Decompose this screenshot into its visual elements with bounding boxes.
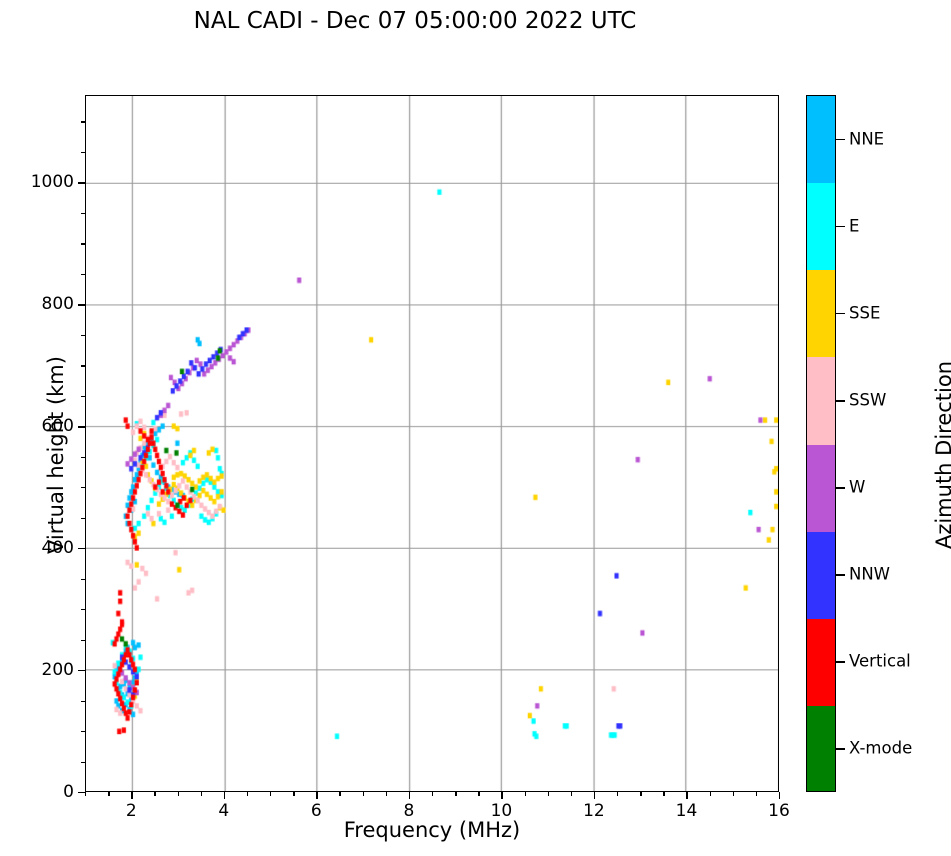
x-tick-mark (594, 792, 595, 799)
x-tick-mark (525, 792, 526, 796)
x-axis-title: Frequency (MHz) (85, 818, 779, 842)
y-tick-mark (78, 182, 85, 183)
y-tick-mark (78, 426, 85, 427)
colorbar-label-x-mode: X-mode (849, 739, 912, 758)
colorbar-tick-mark (836, 661, 845, 663)
x-tick-mark (201, 792, 202, 796)
colorbar-label-w: W (849, 478, 865, 497)
colorbar-label-nne: NNE (849, 129, 884, 148)
figure-root: NAL CADI - Dec 07 05:00:00 2022 UTC 2468… (0, 0, 951, 856)
x-tick-mark (293, 792, 294, 796)
x-tick-mark (617, 792, 618, 796)
x-tick-mark (224, 792, 225, 799)
y-tick-label: 1000 (0, 172, 74, 192)
colorbar-label-e: E (849, 216, 859, 235)
colorbar (806, 95, 836, 792)
colorbar-label-nnw: NNW (849, 565, 890, 584)
colorbar-band-vertical (807, 619, 835, 706)
y-tick-mark (81, 274, 85, 275)
y-tick-mark (81, 243, 85, 244)
y-tick-mark (81, 487, 85, 488)
x-tick-mark (455, 792, 456, 796)
x-tick-mark (386, 792, 387, 796)
y-tick-label: 200 (0, 660, 74, 680)
x-tick-mark (85, 792, 86, 796)
y-tick-mark (81, 335, 85, 336)
y-tick-mark (81, 609, 85, 610)
colorbar-band-nnw (807, 532, 835, 619)
y-tick-mark (81, 762, 85, 763)
colorbar-label-sse: SSE (849, 303, 880, 322)
x-tick-mark (316, 792, 317, 799)
colorbar-tick-mark (836, 226, 845, 228)
y-tick-mark (78, 792, 85, 793)
colorbar-tick-mark (836, 748, 845, 750)
y-tick-mark (81, 213, 85, 214)
x-tick-mark (363, 792, 364, 796)
y-tick-mark (81, 152, 85, 153)
x-tick-mark (756, 792, 757, 796)
x-tick-mark (108, 792, 109, 796)
y-tick-mark (81, 518, 85, 519)
y-tick-mark (81, 396, 85, 397)
y-tick-mark (78, 548, 85, 549)
scatter-plot-canvas (86, 96, 778, 791)
x-tick-mark (571, 792, 572, 796)
colorbar-band-x-mode (807, 706, 835, 792)
colorbar-label-ssw: SSW (849, 390, 886, 409)
colorbar-title: Azimuth Direction (932, 290, 951, 620)
y-tick-label: 0 (0, 782, 74, 802)
x-tick-mark (432, 792, 433, 796)
y-tick-mark (81, 640, 85, 641)
x-tick-mark (501, 792, 502, 799)
colorbar-label-vertical: Vertical (849, 652, 911, 671)
colorbar-tick-mark (836, 487, 845, 489)
colorbar-band-e (807, 183, 835, 270)
x-tick-mark (247, 792, 248, 796)
x-tick-mark (131, 792, 132, 799)
colorbar-band-sse (807, 270, 835, 357)
x-tick-mark (663, 792, 664, 796)
colorbar-tick-mark (836, 574, 845, 576)
y-tick-mark (81, 731, 85, 732)
colorbar-tick-mark (836, 139, 845, 141)
colorbar-band-nne (807, 96, 835, 183)
x-tick-mark (178, 792, 179, 796)
x-tick-mark (640, 792, 641, 796)
x-tick-mark (733, 792, 734, 796)
colorbar-tick-mark (836, 313, 845, 315)
x-tick-mark (779, 792, 780, 799)
y-tick-mark (81, 579, 85, 580)
y-tick-mark (81, 365, 85, 366)
x-tick-mark (154, 792, 155, 796)
y-tick-mark (81, 457, 85, 458)
colorbar-band-ssw (807, 357, 835, 444)
y-tick-mark (81, 121, 85, 122)
x-tick-mark (478, 792, 479, 796)
x-tick-mark (409, 792, 410, 799)
colorbar-band-w (807, 445, 835, 532)
y-tick-mark (81, 701, 85, 702)
x-tick-mark (686, 792, 687, 799)
x-tick-mark (339, 792, 340, 796)
plot-area (85, 95, 779, 792)
x-tick-mark (548, 792, 549, 796)
colorbar-tick-mark (836, 400, 845, 402)
page-title: NAL CADI - Dec 07 05:00:00 2022 UTC (0, 8, 830, 34)
x-tick-mark (270, 792, 271, 796)
y-tick-mark (78, 670, 85, 671)
y-axis-title: Virtual height (km) (44, 305, 68, 605)
x-tick-mark (710, 792, 711, 796)
y-tick-mark (78, 304, 85, 305)
